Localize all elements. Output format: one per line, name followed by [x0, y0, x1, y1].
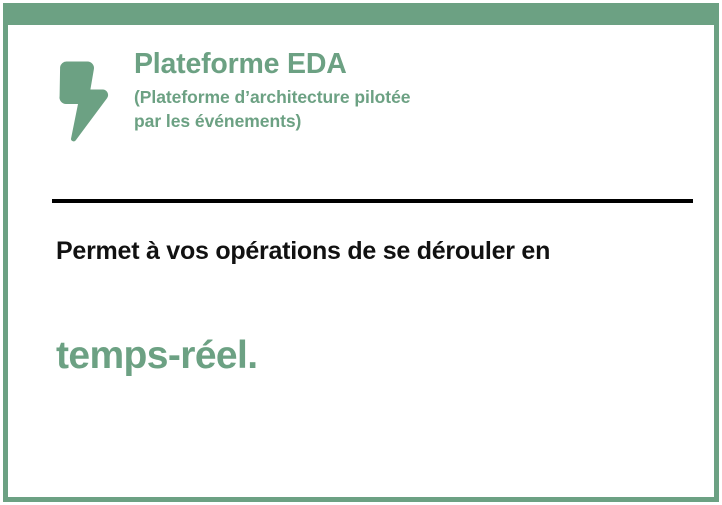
platform-subtitle-line-1: (Plateforme d’architecture pilotée	[134, 85, 410, 109]
highlight-text: temps-réel.	[56, 335, 257, 378]
platform-subtitle: (Plateforme d’architecture pilotée par l…	[134, 85, 410, 133]
platform-subtitle-line-2: par les événements)	[134, 109, 410, 133]
body-paragraph: Permet à vos opérations de se dérouler e…	[56, 235, 616, 269]
empty-content-area	[8, 405, 714, 502]
section-divider	[52, 199, 693, 203]
card-inner: Plateforme EDA (Plateforme d’architectur…	[8, 25, 714, 497]
header-text-group: Plateforme EDA (Plateforme d’architectur…	[134, 49, 410, 133]
eda-platform-card: Plateforme EDA (Plateforme d’architectur…	[3, 3, 719, 502]
page-title: Plateforme EDA	[134, 49, 410, 81]
lightning-bolt-icon	[57, 59, 109, 143]
card-header: Plateforme EDA (Plateforme d’architectur…	[57, 49, 410, 143]
